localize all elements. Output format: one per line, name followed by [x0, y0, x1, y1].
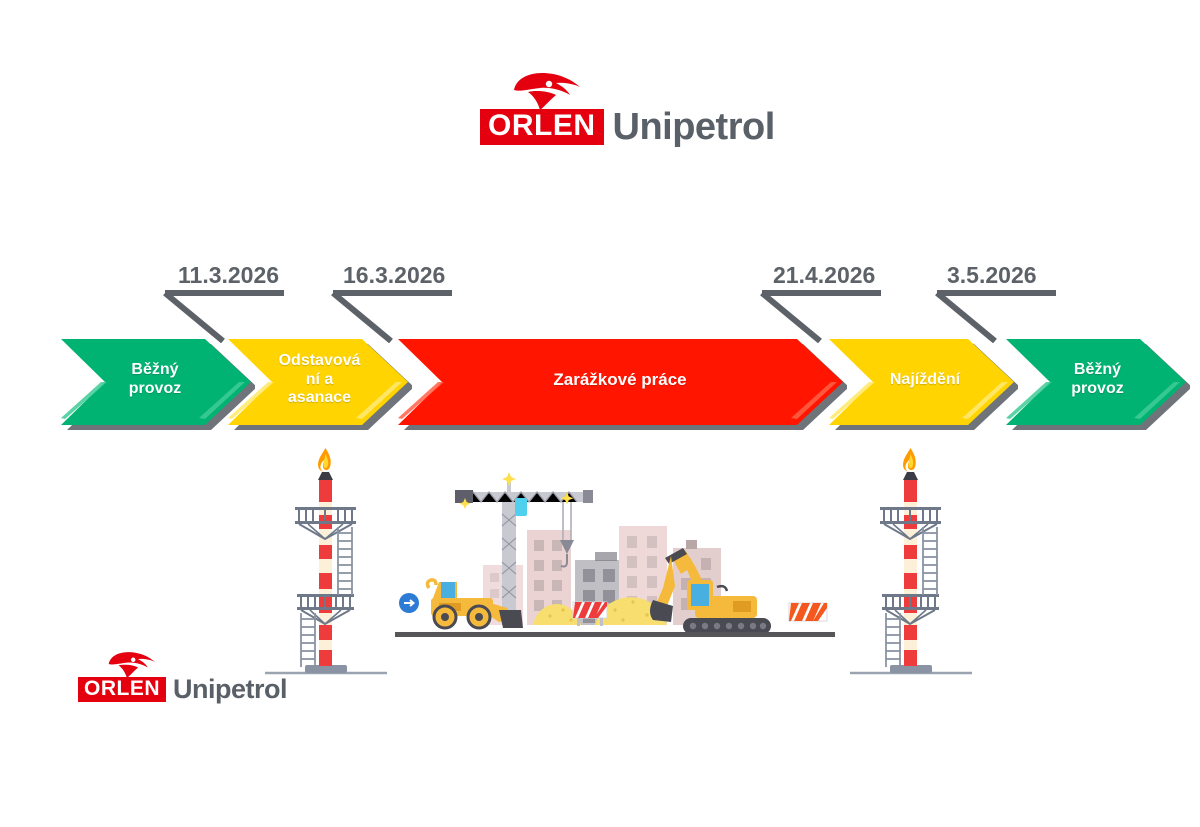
phase-chevron-2[interactable]	[222, 325, 412, 435]
date-label-3: 21.4.2026	[773, 262, 875, 289]
phase-timeline: Běžný provoz Odstavová ní a asanace Zará…	[0, 325, 1200, 435]
phase-chevron-5[interactable]	[1000, 325, 1190, 435]
unipetrol-wordmark: Unipetrol	[613, 108, 775, 146]
orlen-mark: ORLEN	[78, 677, 166, 701]
flare-stack-right-icon	[840, 445, 980, 690]
date-label-2: 16.3.2026	[343, 262, 445, 289]
phase-chevron-3[interactable]	[392, 325, 847, 435]
construction-site-illustration	[395, 470, 835, 650]
orlen-mark: ORLEN	[480, 109, 604, 145]
date-label-1: 11.3.2026	[178, 262, 279, 289]
footer-logo: ORLEN Unipetrol	[78, 650, 293, 720]
header-logo: ORLEN Unipetrol	[480, 70, 770, 165]
orlen-eagle-icon	[100, 650, 158, 678]
unipetrol-wordmark: Unipetrol	[173, 676, 287, 703]
orlen-eagle-icon	[502, 70, 584, 110]
logo-wordmark-row: ORLEN Unipetrol	[78, 676, 287, 703]
phase-chevron-4[interactable]	[823, 325, 1018, 435]
date-label-4: 3.5.2026	[947, 262, 1037, 289]
logo-wordmark-row: ORLEN Unipetrol	[480, 108, 775, 146]
